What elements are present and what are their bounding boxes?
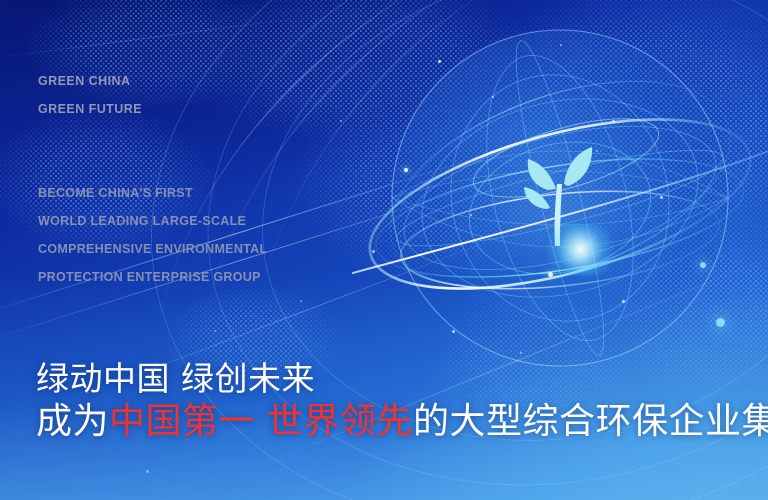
globe-core-burst [543,224,618,275]
hero-banner: GREEN CHINA GREEN FUTURE BECOME CHINA'S … [0,0,768,500]
headline-line-1: 绿动中国 绿创未来 [36,362,766,395]
claim-line-2: WORLD LEADING LARGE-SCALE [38,214,246,228]
eyebrow-line-1: GREEN CHINA [38,74,130,88]
headline-highlight: 中国第一 世界领先 [109,401,413,442]
claim-line-4: PROTECTION ENTERPRISE GROUP [38,270,261,284]
claim-line-1: BECOME CHINA'S FIRST [38,186,193,200]
claim-line-3: COMPREHENSIVE ENVIRONMENTAL [38,242,267,256]
eyebrow-line-2: GREEN FUTURE [38,102,142,116]
headline-suffix: 的大型综合环保企业集团 [413,401,768,442]
headline-prefix: 成为 [36,401,109,442]
headline: 绿动中国 绿创未来 成为中国第一 世界领先的大型综合环保企业集团 [36,362,766,440]
headline-line-2: 成为中国第一 世界领先的大型综合环保企业集团 [36,404,766,440]
